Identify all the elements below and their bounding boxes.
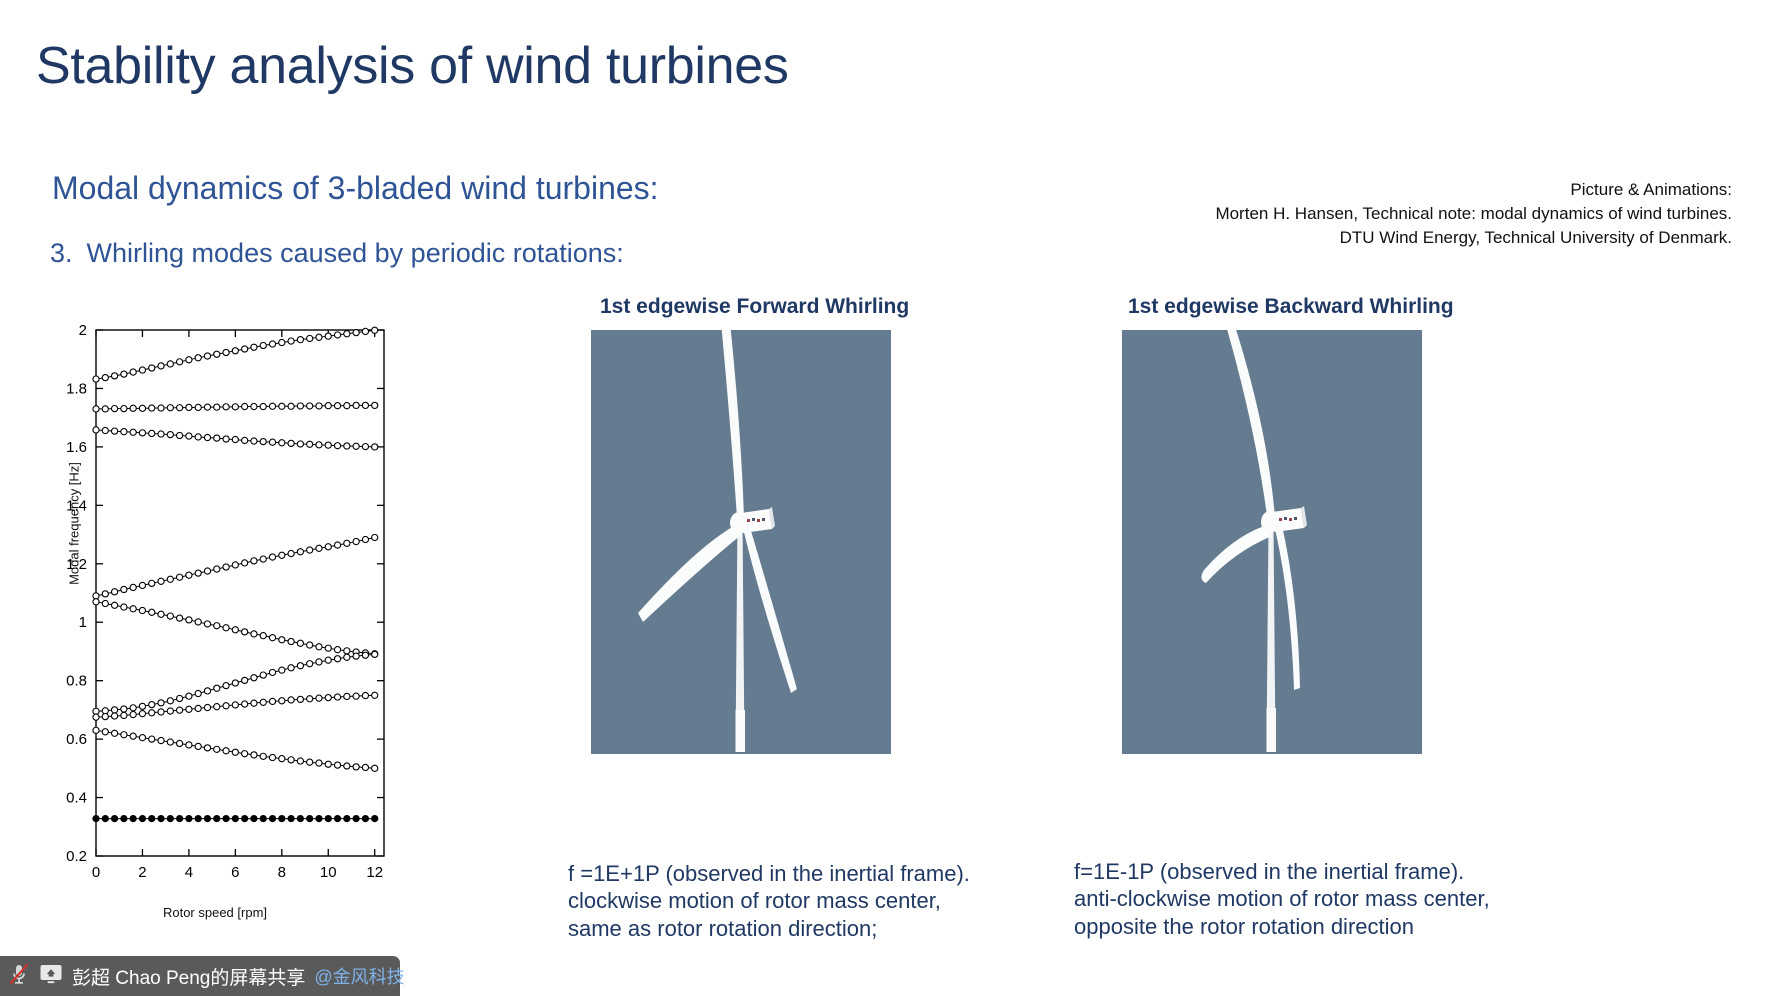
- screen-share-icon[interactable]: [39, 963, 63, 990]
- presentation-slide: Stability analysis of wind turbines Moda…: [0, 0, 1768, 996]
- svg-text:0.6: 0.6: [66, 731, 87, 748]
- panel-heading-forward: 1st edgewise Forward Whirling: [600, 295, 890, 319]
- credit-line-3: DTU Wind Energy, Technical University of…: [1215, 226, 1732, 250]
- page-title: Stability analysis of wind turbines: [36, 36, 789, 96]
- bullet-number: 3.: [50, 238, 73, 269]
- panel-caption-forward: f =1E+1P (observed in the inertial frame…: [568, 860, 1038, 942]
- animation-frame-forward[interactable]: [591, 330, 891, 754]
- svg-text:2: 2: [79, 322, 87, 339]
- share-status-text: 彭超 Chao Peng的屏幕共享: [72, 963, 305, 990]
- share-company-tag: @金风科技: [314, 963, 404, 989]
- svg-text:1: 1: [79, 614, 87, 631]
- svg-text:8: 8: [278, 864, 286, 881]
- svg-text:2: 2: [138, 864, 146, 881]
- svg-text:12: 12: [366, 864, 383, 881]
- screen-share-taskbar[interactable]: 彭超 Chao Peng的屏幕共享 @金风科技: [0, 956, 400, 996]
- panel-heading-backward: 1st edgewise Backward Whirling: [1128, 295, 1418, 319]
- modal-frequency-chart: 0.20.40.60.811.21.41.61.82024681012 Moda…: [40, 318, 390, 918]
- credit-line-1: Picture & Animations:: [1215, 178, 1732, 202]
- credit-block: Picture & Animations: Morten H. Hansen, …: [1215, 178, 1732, 250]
- chart-canvas: 0.20.40.60.811.21.41.61.82024681012: [40, 318, 390, 918]
- wind-turbine-backward-illustration: [1122, 330, 1422, 754]
- svg-text:4: 4: [185, 864, 193, 881]
- svg-text:0.2: 0.2: [66, 848, 87, 865]
- svg-text:0.8: 0.8: [66, 673, 87, 690]
- svg-text:10: 10: [320, 864, 337, 881]
- svg-text:1.8: 1.8: [66, 380, 87, 397]
- chart-y-axis-label: Modal frequency [Hz]: [67, 444, 82, 604]
- bullet-item-3: 3. Whirling modes caused by periodic rot…: [50, 238, 624, 269]
- slide-subtitle: Modal dynamics of 3-bladed wind turbines…: [52, 170, 659, 207]
- svg-text:6: 6: [231, 864, 239, 881]
- svg-text:0.4: 0.4: [66, 790, 87, 807]
- panel-caption-backward: f=1E-1P (observed in the inertial frame)…: [1074, 858, 1574, 940]
- chart-x-axis-label: Rotor speed [rpm]: [40, 905, 390, 920]
- animation-frame-backward[interactable]: [1122, 330, 1422, 754]
- svg-text:0: 0: [92, 864, 100, 881]
- wind-turbine-forward-illustration: [591, 330, 891, 754]
- bullet-label: Whirling modes caused by periodic rotati…: [87, 238, 624, 269]
- microphone-muted-icon[interactable]: [8, 962, 30, 991]
- credit-line-2: Morten H. Hansen, Technical note: modal …: [1215, 202, 1732, 226]
